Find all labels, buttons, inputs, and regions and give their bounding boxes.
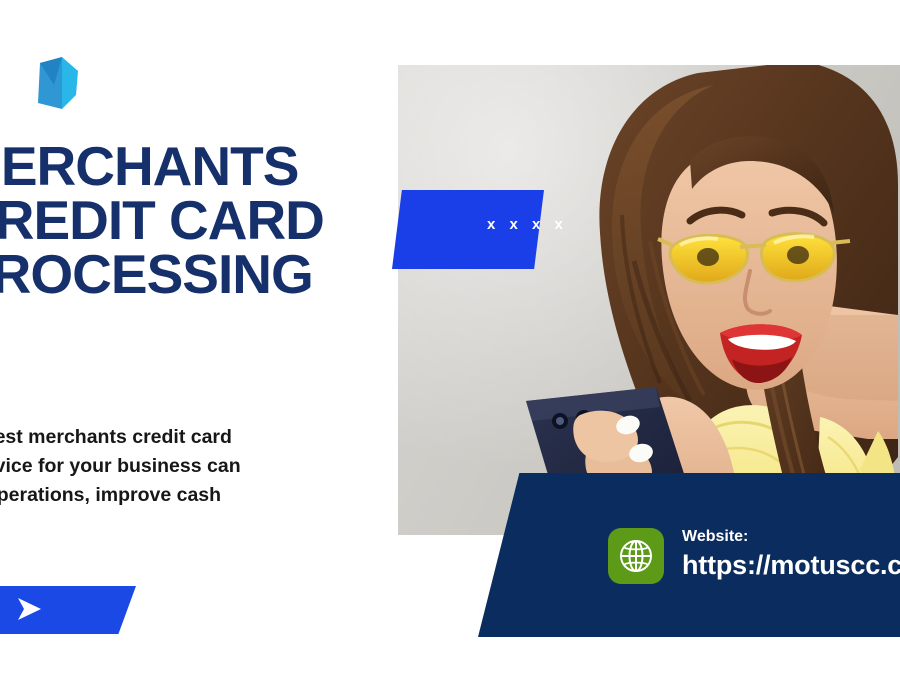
model-illustration [398,65,900,535]
subcopy-line-2: g service for your business can [0,452,368,481]
slab-x-marks: x x x x [487,216,568,233]
subcopy-line-1: the best merchants credit card [0,423,368,452]
subcopy-line-3: our operations, improve cash [0,481,368,510]
headline-line-1: MERCHANTS [0,140,426,194]
website-url[interactable]: https://motuscc.co [682,550,900,581]
globe-icon [608,528,664,584]
promotional-banner: JS INC MERCHANTS CREDIT CARD PROCESSING … [0,0,900,700]
contact-us-button[interactable]: CT US [0,586,136,634]
headline-line-3: PROCESSING [0,248,426,302]
company-logo[interactable]: JS INC [0,52,118,122]
cta-container: CT US [0,586,136,634]
arrow-right-icon [15,596,45,625]
hero-photo [398,65,900,535]
website-label: Website: [682,528,748,546]
sail-swoosh-mark-icon [32,55,84,117]
subcopy-paragraph: the best merchants credit card g service… [0,423,368,510]
headline: MERCHANTS CREDIT CARD PROCESSING [0,140,426,302]
headline-line-2: CREDIT CARD [0,194,426,248]
